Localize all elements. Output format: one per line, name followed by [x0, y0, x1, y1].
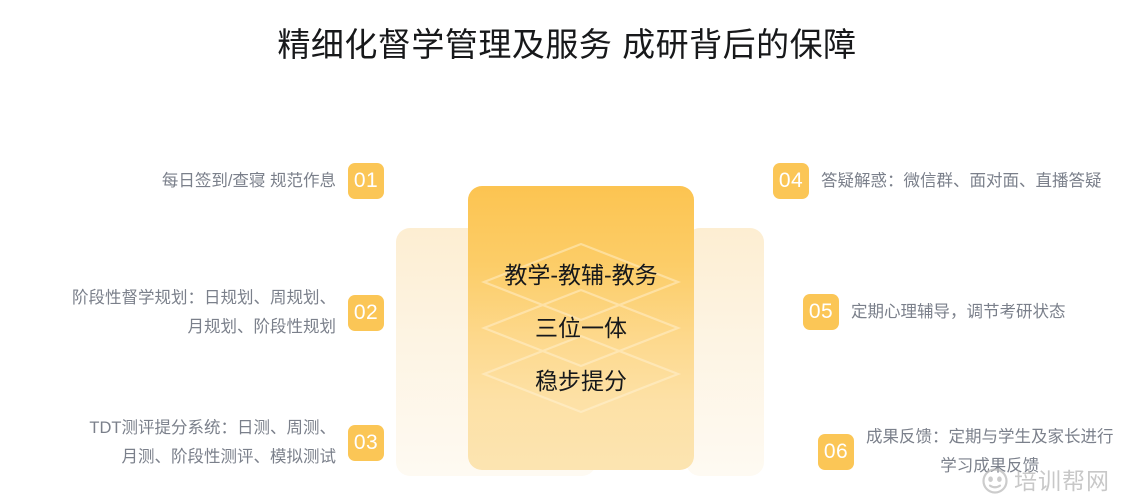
- watermark: 培训帮网: [982, 468, 1110, 494]
- feature-item-02[interactable]: 阶段性督学规划：日规划、周规划、 月规划、阶段性规划 02: [20, 284, 384, 342]
- feature-item-03-line-2: 月测、阶段性测评、模拟测试: [89, 443, 336, 472]
- feature-item-04-badge: 04: [773, 163, 809, 199]
- center-card-backdrop-right: [686, 228, 764, 476]
- center-card-line-3: 稳步提分: [535, 367, 627, 395]
- feature-item-02-line-1: 阶段性督学规划：日规划、周规划、: [72, 284, 336, 313]
- slide-canvas: 精细化督学管理及服务 成研背后的保障 教学-教辅-教务 三位一体 稳步提分 每日…: [0, 0, 1134, 504]
- smiley-face-icon: [982, 468, 1008, 494]
- center-card-text: 教学-教辅-教务 三位一体 稳步提分: [468, 186, 694, 470]
- feature-item-05[interactable]: 05 定期心理辅导，调节考研状态: [803, 294, 1114, 330]
- feature-item-05-badge: 05: [803, 294, 839, 330]
- center-card-group: 教学-教辅-教务 三位一体 稳步提分: [396, 180, 768, 476]
- feature-item-02-text: 阶段性督学规划：日规划、周规划、 月规划、阶段性规划: [72, 284, 336, 342]
- feature-item-04-text: 答疑解惑：微信群、面对面、直播答疑: [821, 167, 1102, 196]
- feature-item-05-text: 定期心理辅导，调节考研状态: [851, 298, 1066, 327]
- feature-item-03-text: TDT测评提分系统：日测、周测、 月测、阶段性测评、模拟测试: [89, 414, 336, 472]
- center-card-line-1: 教学-教辅-教务: [504, 261, 657, 289]
- feature-item-01-text: 每日签到/查寝 规范作息: [162, 167, 336, 196]
- feature-item-02-badge: 02: [348, 295, 384, 331]
- feature-item-06-line-1: 成果反馈：定期与学生及家长进行: [866, 423, 1114, 452]
- feature-item-03-badge: 03: [348, 425, 384, 461]
- feature-item-04[interactable]: 04 答疑解惑：微信群、面对面、直播答疑: [773, 163, 1114, 199]
- watermark-text: 培训帮网: [1014, 468, 1110, 494]
- feature-item-05-line-1: 定期心理辅导，调节考研状态: [851, 298, 1066, 327]
- feature-item-01[interactable]: 每日签到/查寝 规范作息 01: [60, 163, 384, 199]
- center-card-line-2: 三位一体: [535, 314, 627, 342]
- page-title: 精细化督学管理及服务 成研背后的保障: [0, 24, 1134, 66]
- feature-item-03[interactable]: TDT测评提分系统：日测、周测、 月测、阶段性测评、模拟测试 03: [20, 414, 384, 472]
- center-card: 教学-教辅-教务 三位一体 稳步提分: [468, 186, 694, 470]
- feature-item-01-line-1: 每日签到/查寝 规范作息: [162, 167, 336, 196]
- feature-item-03-line-1: TDT测评提分系统：日测、周测、: [89, 414, 336, 443]
- feature-item-01-badge: 01: [348, 163, 384, 199]
- feature-item-04-line-1: 答疑解惑：微信群、面对面、直播答疑: [821, 167, 1102, 196]
- feature-item-02-line-2: 月规划、阶段性规划: [72, 313, 336, 342]
- feature-item-06-badge: 06: [818, 434, 854, 470]
